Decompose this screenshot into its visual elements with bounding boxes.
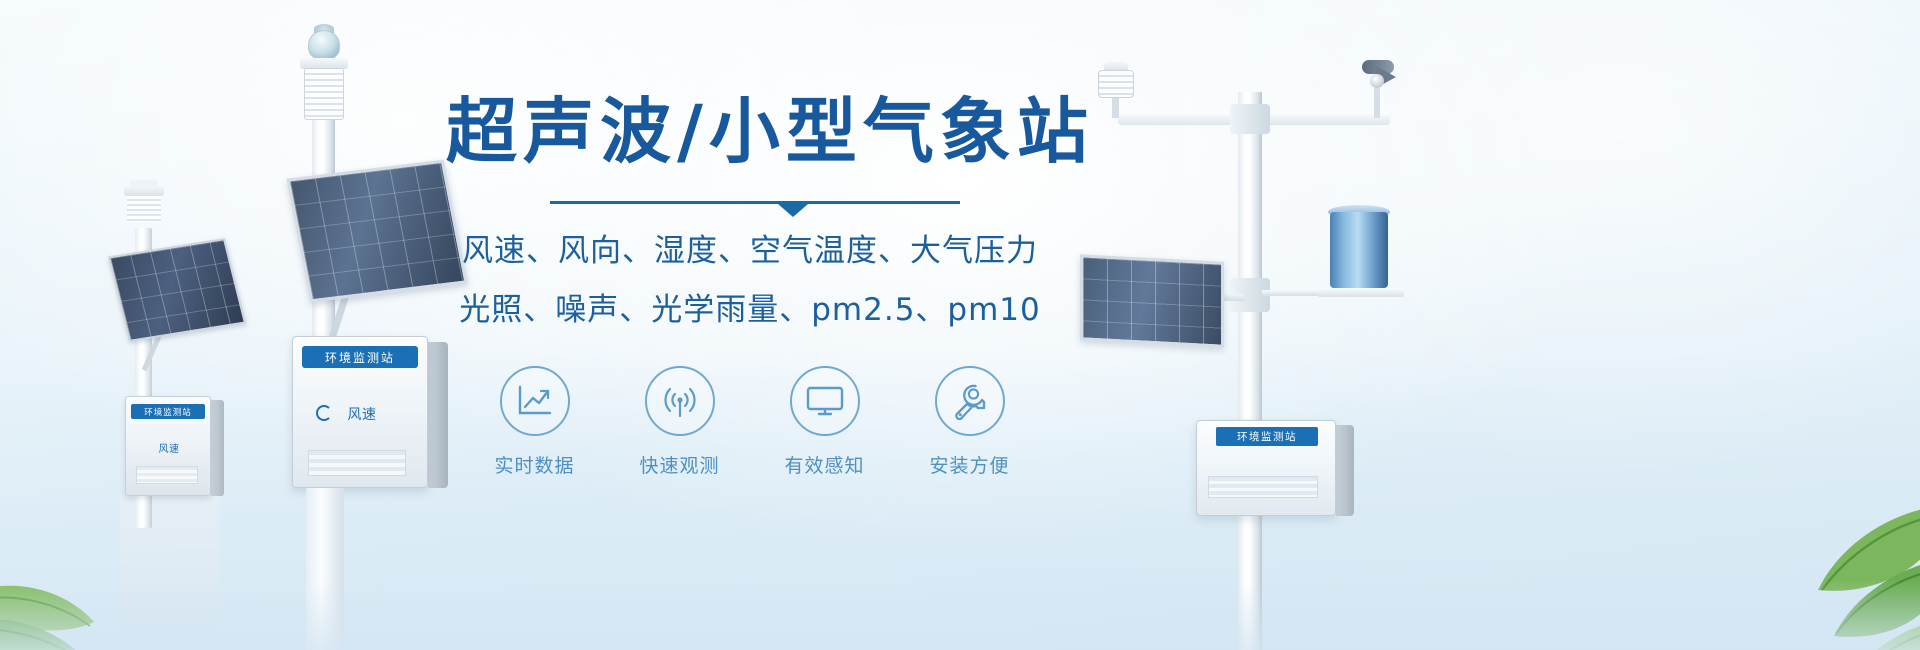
sensor-top-plate: [124, 186, 164, 196]
ground-haze: [0, 580, 1920, 650]
wrench-icon: [951, 382, 989, 420]
wind-vane-stem: [1374, 88, 1380, 118]
feature-item-realtime-data[interactable]: 实时数据: [482, 366, 587, 478]
feature-item-effective-sensing[interactable]: 有效感知: [772, 366, 877, 478]
radiation-shield-icon: [127, 196, 161, 222]
mounting-mast: [1238, 92, 1262, 650]
enclosure-label-tag: 环境监测站: [1216, 427, 1318, 446]
monitor-icon: [805, 384, 845, 418]
radar-signal-icon: [661, 383, 699, 419]
line-chart-icon: [516, 384, 554, 418]
rain-gauge-arm: [1262, 290, 1322, 296]
solar-panel-icon: [108, 238, 246, 342]
title-divider: [440, 195, 1060, 213]
feature-label: 快速观测: [627, 451, 732, 478]
feature-item-fast-observation[interactable]: 快速观测: [627, 366, 732, 478]
banner-title: 超声波/小型气象站: [440, 96, 1060, 167]
banner-subtitle-line-2: 光照、噪声、光学雨量、pm2.5、pm10: [440, 295, 1060, 326]
enclosure-vent: [1208, 476, 1318, 498]
brand-logo-text: 风速: [146, 440, 192, 454]
divider-triangle-icon: [778, 204, 808, 217]
feature-list: 实时数据 快速观测: [440, 366, 1060, 478]
product-banner: 环境监测站 风速 环境监测站 风速: [0, 0, 1920, 650]
feature-icon-circle: [645, 366, 715, 436]
solar-panel-icon: [1080, 254, 1224, 348]
rain-gauge-icon: [1330, 212, 1388, 288]
mast-collar-upper: [1230, 104, 1270, 134]
feature-label: 有效感知: [772, 451, 877, 478]
banner-copy-block: 超声波/小型气象站 风速、风向、湿度、空气温度、大气压力 光照、噪声、光学雨量、…: [440, 96, 1060, 586]
feature-icon-circle: [500, 366, 570, 436]
enclosure-label-tag: 环境监测站: [302, 346, 418, 368]
enclosure-label-tag: 环境监测站: [131, 404, 205, 419]
divider-line: [550, 201, 960, 204]
ultrasonic-sensor-stem: [1112, 96, 1119, 118]
enclosure-side: [1336, 425, 1354, 516]
wind-vane-pivot: [1370, 74, 1384, 88]
brand-logo-text: 风速: [330, 404, 394, 424]
light-sensor-dome-icon: [308, 30, 340, 60]
feature-icon-circle: [790, 366, 860, 436]
feature-label: 安装方便: [917, 451, 1022, 478]
banner-subtitle-line-1: 风速、风向、湿度、空气温度、大气压力: [440, 236, 1060, 267]
feature-icon-circle: [935, 366, 1005, 436]
enclosure-side: [211, 400, 224, 496]
enclosure-vent: [308, 450, 406, 476]
feature-label: 实时数据: [482, 451, 587, 478]
ultrasonic-wind-sensor-icon: [1098, 70, 1134, 98]
radiation-shield-icon: [304, 68, 344, 120]
rain-gauge-shelf: [1318, 288, 1404, 297]
feature-item-easy-install[interactable]: 安装方便: [917, 366, 1022, 478]
